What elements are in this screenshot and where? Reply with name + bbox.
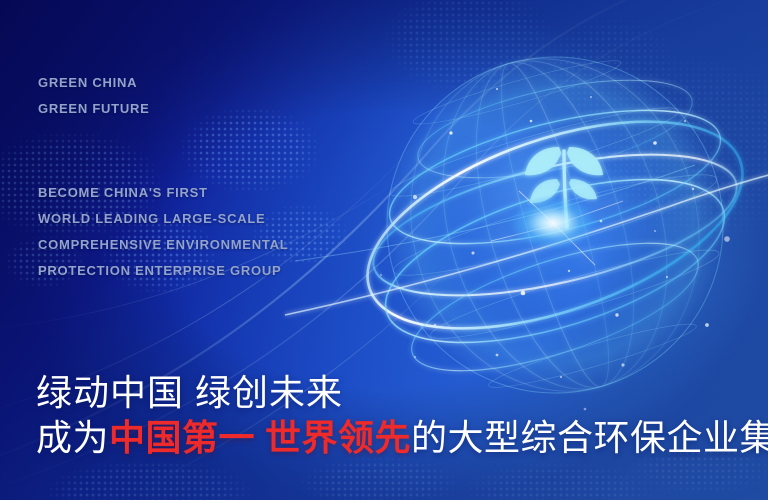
slogan-line-2: GREEN FUTURE — [38, 96, 150, 122]
slogan-line-1: GREEN CHINA — [38, 70, 150, 96]
globe-wireframe — [355, 25, 755, 425]
core-glow — [510, 197, 596, 249]
hero-banner: GREEN CHINA GREEN FUTURE BECOME CHINA'S … — [0, 0, 768, 500]
sprout-icon — [525, 147, 603, 227]
headline-highlight-china-first: 中国第一 — [109, 417, 255, 458]
headline-prefix: 成为 — [36, 417, 109, 458]
mission-line-1: BECOME CHINA'S FIRST — [38, 180, 288, 206]
english-slogan-block: GREEN CHINA GREEN FUTURE — [38, 70, 150, 122]
headline-highlight-world-leading: 世界领先 — [265, 417, 411, 458]
mission-line-2: WORLD LEADING LARGE-SCALE — [38, 206, 288, 232]
headline-suffix: 的大型综合环保企业集团 — [411, 417, 768, 458]
english-mission-block: BECOME CHINA'S FIRST WORLD LEADING LARGE… — [38, 180, 288, 284]
particle-field — [380, 88, 730, 410]
globe-graphic — [355, 25, 755, 425]
chinese-headline-line-2: 成为中国第一世界领先的大型综合环保企业集团 — [36, 409, 768, 461]
mission-line-4: PROTECTION ENTERPRISE GROUP — [38, 258, 288, 284]
mission-line-3: COMPREHENSIVE ENVIRONMENTAL — [38, 232, 288, 258]
